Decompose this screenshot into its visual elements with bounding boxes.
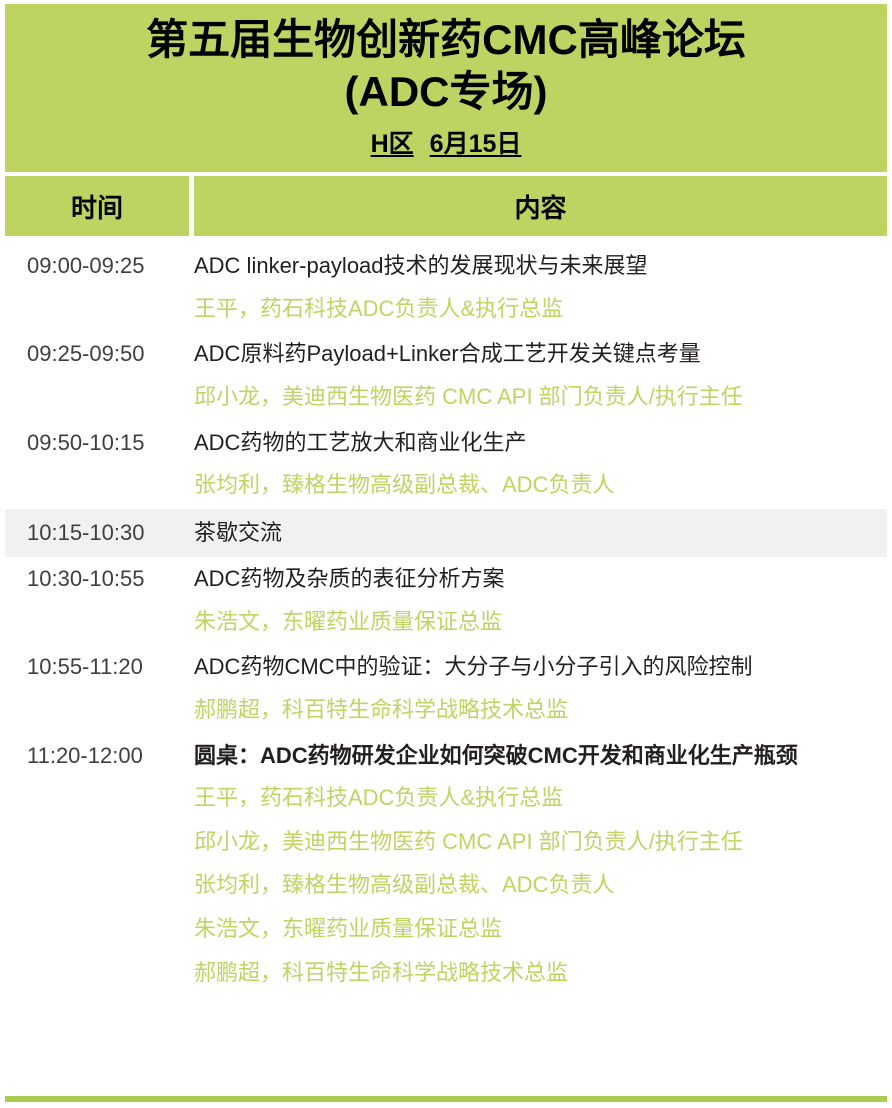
agenda-row-content: 茶歇交流 [194,517,887,550]
agenda-row-speakers: 郝鹏超，科百特生命科学战略技术总监 [194,692,879,728]
agenda-row-topic: ADC linker-payload技术的发展现状与未来展望 [194,250,879,283]
agenda-row-content: ADC药物的工艺放大和商业化生产张均利，臻格生物高级副总裁、ADC负责人 [194,427,887,503]
agenda-row-topic: ADC药物及杂质的表征分析方案 [194,563,879,596]
date-label: 6月15日 [430,130,522,158]
speaker-line: 张均利，臻格生物高级副总裁、ADC负责人 [194,867,879,903]
event-subtitle: H区6月15日 [25,124,867,160]
agenda-row-time: 10:30-10:55 [5,563,194,595]
agenda-page: 第五届生物创新药CMC高峰论坛 (ADC专场) H区6月15日 时间 内容 09… [0,4,892,1108]
speaker-line: 邱小龙，美迪西生物医药 CMC API 部门负责人/执行主任 [194,379,879,415]
agenda-row-speakers: 张均利，臻格生物高级副总裁、ADC负责人 [194,467,879,503]
agenda-row-topic: ADC药物的工艺放大和商业化生产 [194,427,879,460]
event-title-line-1: 第五届生物创新药CMC高峰论坛 [25,14,867,66]
agenda-row-time: 11:20-12:00 [5,740,194,772]
agenda-row-speakers: 朱浩文，东曜药业质量保证总监 [194,604,879,640]
speaker-line: 王平，药石科技ADC负责人&执行总监 [194,780,879,816]
speaker-line: 王平，药石科技ADC负责人&执行总监 [194,291,879,327]
agenda-row: 09:25-09:50ADC原料药Payload+Linker合成工艺开发关键点… [5,332,887,420]
speaker-line: 朱浩文，东曜药业质量保证总监 [194,604,879,640]
agenda-table-body: 09:00-09:25ADC linker-payload技术的发展现状与未来展… [5,236,887,996]
agenda-row-content: 圆桌：ADC药物研发企业如何突破CMC开发和商业化生产瓶颈王平，药石科技ADC负… [194,740,887,991]
agenda-row-time: 10:15-10:30 [5,517,194,549]
agenda-row-time: 10:55-11:20 [5,651,194,683]
agenda-row: 09:50-10:15ADC药物的工艺放大和商业化生产张均利，臻格生物高级副总裁… [5,421,887,509]
speaker-line: 郝鹏超，科百特生命科学战略技术总监 [194,955,879,991]
agenda-row-time: 09:00-09:25 [5,250,194,282]
agenda-row-topic: 茶歇交流 [194,517,879,550]
speaker-line: 朱浩文，东曜药业质量保证总监 [194,911,879,947]
agenda-row-speakers: 邱小龙，美迪西生物医药 CMC API 部门负责人/执行主任 [194,379,879,415]
agenda-row: 10:55-11:20ADC药物CMC中的验证：大分子与小分子引入的风险控制郝鹏… [5,645,887,733]
agenda-row-topic: ADC原料药Payload+Linker合成工艺开发关键点考量 [194,338,879,371]
speaker-line: 张均利，臻格生物高级副总裁、ADC负责人 [194,467,879,503]
agenda-row-content: ADC药物及杂质的表征分析方案朱浩文，东曜药业质量保证总监 [194,563,887,639]
speaker-line: 邱小龙，美迪西生物医药 CMC API 部门负责人/执行主任 [194,824,879,860]
venue-label: H区 [371,130,414,158]
title-banner: 第五届生物创新药CMC高峰论坛 (ADC专场) H区6月15日 [5,4,887,172]
table-column-header: 时间 内容 [5,176,887,236]
agenda-row: 10:30-10:55ADC药物及杂质的表征分析方案朱浩文，东曜药业质量保证总监 [5,557,887,645]
agenda-row-time: 09:25-09:50 [5,338,194,370]
agenda-row-topic: 圆桌：ADC药物研发企业如何突破CMC开发和商业化生产瓶颈 [194,740,879,773]
event-title-line-2: (ADC专场) [25,66,867,118]
agenda-break-row: 10:15-10:30茶歇交流 [5,509,887,558]
agenda-row-speakers: 王平，药石科技ADC负责人&执行总监邱小龙，美迪西生物医药 CMC API 部门… [194,780,879,990]
agenda-row-content: ADC药物CMC中的验证：大分子与小分子引入的风险控制郝鹏超，科百特生命科学战略… [194,651,887,727]
agenda-row-time: 09:50-10:15 [5,427,194,459]
agenda-row-content: ADC linker-payload技术的发展现状与未来展望王平，药石科技ADC… [194,250,887,326]
agenda-row: 11:20-12:00圆桌：ADC药物研发企业如何突破CMC开发和商业化生产瓶颈… [5,734,887,997]
column-header-content: 内容 [194,176,887,236]
agenda-row-content: ADC原料药Payload+Linker合成工艺开发关键点考量邱小龙，美迪西生物… [194,338,887,414]
agenda-row-topic: ADC药物CMC中的验证：大分子与小分子引入的风险控制 [194,651,879,684]
agenda-row: 09:00-09:25ADC linker-payload技术的发展现状与未来展… [5,244,887,332]
column-header-time: 时间 [5,176,189,236]
speaker-line: 郝鹏超，科百特生命科学战略技术总监 [194,692,879,728]
bottom-rule [5,1096,887,1102]
agenda-row-speakers: 王平，药石科技ADC负责人&执行总监 [194,291,879,327]
